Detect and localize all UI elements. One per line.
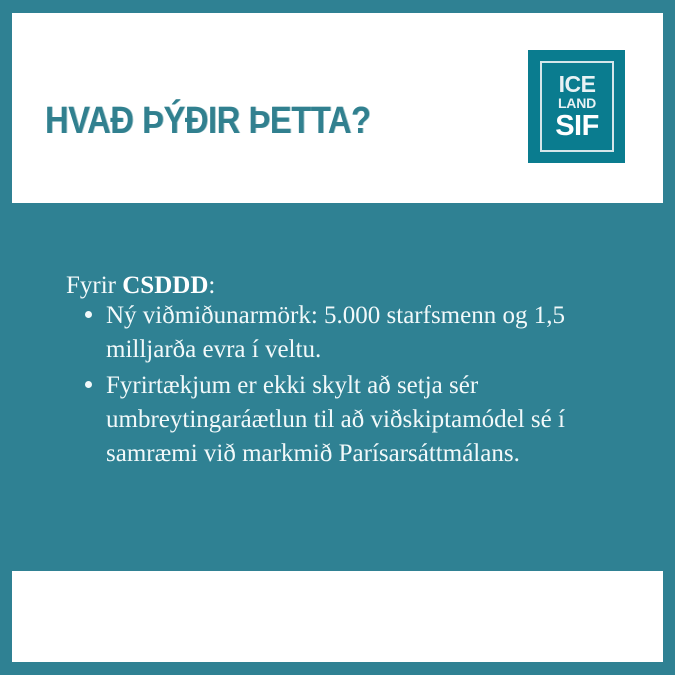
logo-frame: ICE LAND SIF: [540, 61, 614, 152]
list-item-text: Fyrirtækjum er ekki skylt að setja sér u…: [106, 369, 626, 471]
intro-term: CSDDD: [122, 272, 208, 299]
list-item: Fyrirtækjum er ekki skylt að setja sér u…: [66, 369, 626, 471]
bullet-dot-icon: [85, 381, 92, 388]
intro-suffix: :: [208, 272, 215, 299]
footer-panel: [12, 571, 663, 662]
intro-prefix: Fyrir: [66, 272, 122, 299]
bullet-dot-icon: [85, 311, 92, 318]
bullet-list: Ný viðmiðunarmörk: 5.000 starfsmenn og 1…: [66, 299, 626, 473]
intro-line: Fyrir CSDDD:: [66, 271, 215, 301]
header-panel: HVAÐ ÞÝÐIR ÞETTA? ICE LAND SIF: [12, 13, 663, 203]
logo-line-ice: ICE: [559, 73, 596, 95]
list-item-text: Ný viðmiðunarmörk: 5.000 starfsmenn og 1…: [106, 299, 626, 367]
content-area: Fyrir CSDDD: Ný viðmiðunarmörk: 5.000 st…: [0, 203, 675, 558]
slide-root: { "colors": { "background_teal": "#2f819…: [0, 0, 675, 675]
logo-line-sif: SIF: [555, 112, 599, 140]
page-title: HVAÐ ÞÝÐIR ÞETTA?: [45, 99, 371, 143]
icelandsif-logo: ICE LAND SIF: [528, 50, 625, 163]
list-item: Ný viðmiðunarmörk: 5.000 starfsmenn og 1…: [66, 299, 626, 367]
